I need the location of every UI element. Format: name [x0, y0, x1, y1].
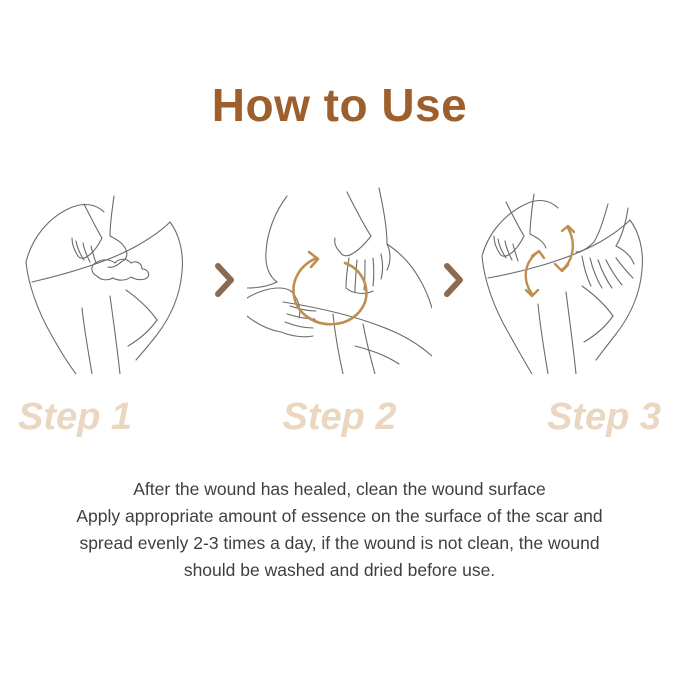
instructions-line-3: spread evenly 2-3 times a day, if the wo… — [28, 530, 651, 557]
step-2-illustration — [247, 186, 432, 374]
instructions-text: After the wound has healed, clean the wo… — [28, 476, 651, 584]
chevron-right-icon-1 — [203, 186, 247, 374]
how-to-use-panel: How to Use — [0, 0, 679, 679]
step-captions-row: Step 1 Step 2 Step 3 — [0, 392, 679, 442]
step-3-illustration — [476, 186, 661, 374]
step-2-caption: Step 2 — [247, 398, 432, 436]
instructions-line-2: Apply appropriate amount of essence on t… — [28, 503, 651, 530]
page-title: How to Use — [0, 82, 679, 128]
step-1-caption: Step 1 — [12, 398, 203, 436]
instructions-line-1: After the wound has healed, clean the wo… — [28, 476, 651, 503]
instructions-line-4: should be washed and dried before use. — [28, 557, 651, 584]
chevron-right-icon-2 — [432, 186, 476, 374]
step-3-caption: Step 3 — [476, 398, 667, 436]
steps-illustration-row — [0, 186, 679, 374]
step-1-illustration — [18, 186, 203, 374]
